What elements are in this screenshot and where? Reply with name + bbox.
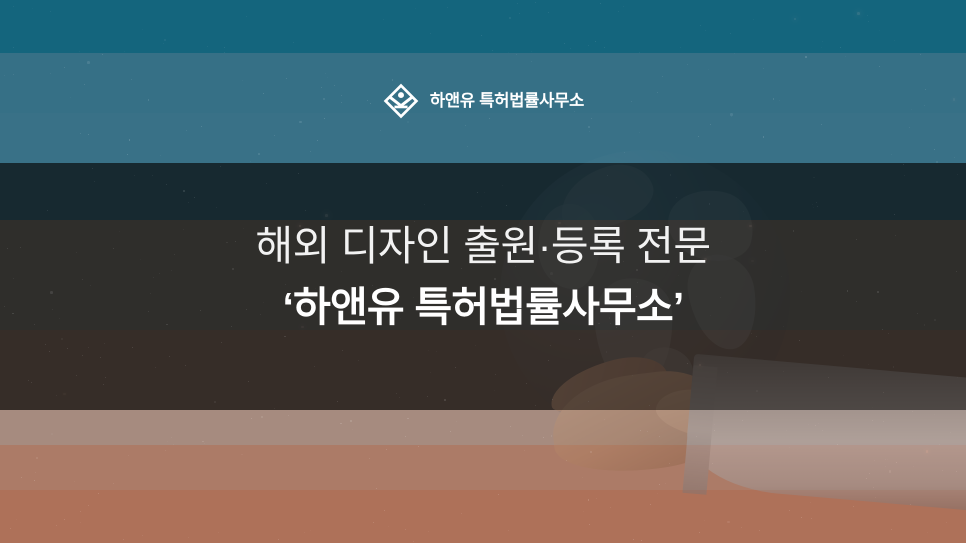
brand-name: 하앤유 특허법률사무소 [430,93,584,110]
headline-block: 해외 디자인 출원·등록 전문 ‘하앤유 특허법률사무소’ [0,222,966,332]
background-band-8 [0,445,966,490]
background-band-1 [0,0,966,53]
headline-line-1: 해외 디자인 출원·등록 전문 [0,222,966,271]
diamond-emblem-icon [382,82,420,120]
headline-line-2: ‘하앤유 특허법률사무소’ [0,283,966,332]
background-band-4 [0,163,966,220]
background-band-9 [0,490,966,543]
background-band-6 [0,330,966,410]
background-band-7 [0,410,966,445]
brand-lockup: 하앤유 특허법률사무소 [0,82,966,120]
promo-banner: 하앤유 특허법률사무소 해외 디자인 출원·등록 전문 ‘하앤유 특허법률사무소… [0,0,966,543]
background-band-3 [0,113,966,163]
